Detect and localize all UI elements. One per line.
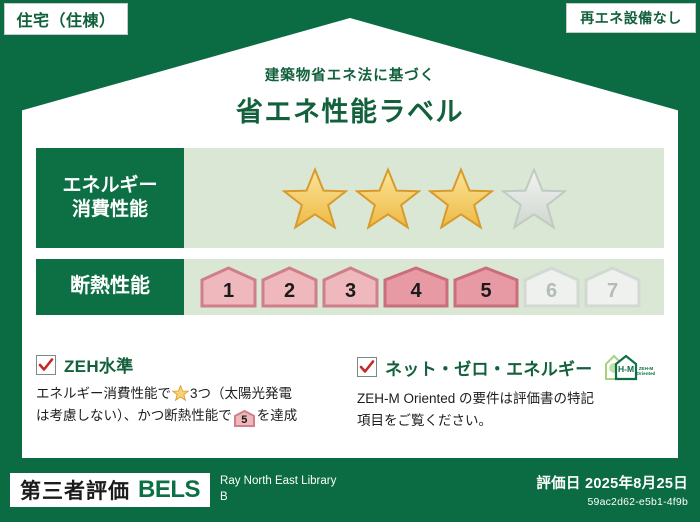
- zeh-net-zero-desc-line2: 項目をご覧ください。: [357, 413, 492, 428]
- building-name: Ray North East Library: [220, 474, 336, 490]
- zeh-desc-part-a: エネルギー消費性能で: [36, 386, 171, 401]
- evaluation-info: 評価日 2025年8月25日 59ac2d62-e5b1-4f9b: [536, 472, 688, 508]
- footer-bar: 第三者評価 BELS Ray North East Library B 評価日 …: [0, 458, 700, 522]
- row-insulation-performance: 断熱性能 1 2: [36, 259, 664, 315]
- star-icon-empty-4: [501, 167, 567, 230]
- zeh-standard-title-row: ZEH水準: [36, 352, 343, 377]
- grade-badge-inline-label: 5: [241, 414, 247, 426]
- star-icon-filled-3: [428, 167, 494, 230]
- row-energy-label-line1: エネルギー: [62, 174, 157, 198]
- star-icon-inline: [172, 385, 189, 401]
- row-insulation-label-line1: 断熱性能: [70, 274, 150, 300]
- zeh-standard-title: ZEH水準: [64, 352, 134, 377]
- row-insulation-grades: 1 2 3 4: [184, 259, 664, 315]
- row-energy-stars: [184, 148, 664, 248]
- building-info: Ray North East Library B: [220, 474, 336, 505]
- grade-badge-1: 1: [200, 266, 257, 308]
- grade-badge-5: 5: [453, 266, 519, 308]
- grade-badge-1-label: 1: [223, 280, 234, 303]
- grade-badge-2-label: 2: [284, 280, 295, 303]
- grade-badge-6: 6: [523, 266, 580, 308]
- evaluation-date: 評価日 2025年8月25日: [536, 472, 688, 493]
- zeh-net-zero-title-row: ネット・ゼロ・エネルギー H-M ZEH-M Oriented: [357, 352, 664, 382]
- heading-subtitle: 建築物省エネ法に基づく: [0, 64, 700, 85]
- bels-en-label: BELS: [138, 476, 200, 504]
- zeh-standard-desc: エネルギー消費性能で3つ（太陽光発電 は考慮しない）、かつ断熱性能で5を達成: [36, 383, 343, 427]
- grade-badge-4-label: 4: [410, 280, 421, 303]
- check-icon: [38, 357, 54, 373]
- check-icon: [359, 359, 375, 375]
- tag-renewable-status: 再エネ設備なし: [566, 3, 696, 33]
- zeh-desc-star-count: 3つ（太陽光発電: [190, 386, 292, 401]
- row-energy-label-line2: 消費性能: [72, 198, 148, 222]
- grade-badge-2: 2: [261, 266, 318, 308]
- bels-badge: 第三者評価 BELS: [10, 473, 210, 507]
- zeh-m-oriented-logo-icon: H-M ZEH-M Oriented: [603, 352, 655, 382]
- energy-label-root: 住宅（住棟） 再エネ設備なし 建築物省エネ法に基づく 省エネ性能ラベル エネルギ…: [0, 0, 700, 522]
- checkbox-checked-icon: [357, 357, 377, 377]
- checkbox-checked-icon: [36, 355, 56, 375]
- zeh-net-zero-title: ネット・ゼロ・エネルギー: [385, 355, 593, 380]
- performance-rows: エネルギー 消費性能: [36, 148, 664, 326]
- grade-badge-3-label: 3: [345, 280, 356, 303]
- page-heading: 建築物省エネ法に基づく 省エネ性能ラベル: [0, 64, 700, 129]
- bels-jp-label: 第三者評価: [20, 475, 130, 505]
- grade-badge-7: 7: [584, 266, 641, 308]
- grade-badge-4: 4: [383, 266, 449, 308]
- building-sub: B: [220, 490, 336, 506]
- grade-badge-6-label: 6: [546, 280, 557, 303]
- zeh-net-zero-desc: ZEH-M Oriented の要件は評価書の特記 項目をご覧ください。: [357, 388, 664, 432]
- zeh-desc-part-b: は考慮しない）、かつ断熱性能で: [36, 408, 232, 423]
- grade-badge-inline: 5: [234, 410, 255, 427]
- svg-text:H-M: H-M: [618, 364, 634, 374]
- zeh-standard-block: ZEH水準 エネルギー消費性能で3つ（太陽光発電 は考慮しない）、かつ断熱性能で…: [36, 352, 343, 432]
- grade-badge-5-label: 5: [480, 280, 491, 303]
- star-icon-filled-1: [282, 167, 348, 230]
- svg-text:Oriented: Oriented: [636, 371, 654, 376]
- grade-badge-7-label: 7: [607, 280, 618, 303]
- tag-building-type: 住宅（住棟）: [4, 3, 128, 35]
- zeh-sections: ZEH水準 エネルギー消費性能で3つ（太陽光発電 は考慮しない）、かつ断熱性能で…: [36, 352, 664, 432]
- row-insulation-label: 断熱性能: [36, 259, 184, 315]
- row-energy-performance: エネルギー 消費性能: [36, 148, 664, 248]
- star-icon-filled-2: [355, 167, 421, 230]
- zeh-net-zero-block: ネット・ゼロ・エネルギー H-M ZEH-M Oriented ZEH-M Or…: [357, 352, 664, 432]
- zeh-desc-part-c: を達成: [257, 408, 298, 423]
- grade-badge-3: 3: [322, 266, 379, 308]
- row-energy-label: エネルギー 消費性能: [36, 148, 184, 248]
- evaluation-id: 59ac2d62-e5b1-4f9b: [536, 496, 688, 508]
- zeh-net-zero-desc-line1: ZEH-M Oriented の要件は評価書の特記: [357, 391, 594, 406]
- page-title: 省エネ性能ラベル: [0, 90, 700, 129]
